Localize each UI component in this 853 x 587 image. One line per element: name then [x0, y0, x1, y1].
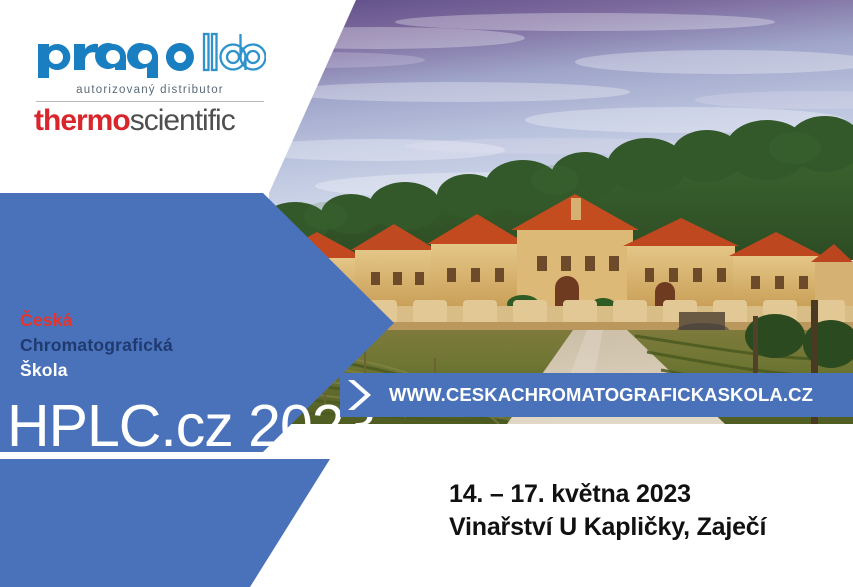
website-band[interactable]: WWW.CESKACHROMATOGRAFICKASKOLA.CZ	[340, 373, 853, 417]
thermo-scientific-logo: thermoscientific	[34, 106, 266, 136]
school-name-line-1: Česká	[20, 308, 350, 333]
event-info-block: 14. – 17. května 2023 Vinařství U Kaplič…	[449, 478, 849, 544]
school-name-line-2: Chromatografická	[20, 333, 350, 358]
hplc-wordmark: HPLC.cz 2023	[7, 397, 375, 456]
distributor-caption: autorizovaný distributor	[34, 84, 266, 96]
chevron-right-icon	[340, 373, 384, 417]
scientific-wordmark: scientific	[130, 104, 235, 137]
logo-block: autorizovaný distributor thermoscientifi…	[34, 30, 266, 136]
school-name-line-3: Škola	[20, 358, 350, 383]
website-url[interactable]: WWW.CESKACHROMATOGRAFICKASKOLA.CZ	[389, 373, 847, 417]
logo-divider	[36, 101, 264, 102]
event-venue: Vinařství U Kapličky, Zaječí	[449, 511, 849, 544]
poster-canvas: autorizovaný distributor thermoscientifi…	[0, 0, 853, 587]
event-dates: 14. – 17. května 2023	[449, 478, 849, 511]
pragolab-logo	[34, 30, 266, 82]
school-name-block: Česká Chromatografická Škola	[20, 308, 350, 383]
blue-footer-band	[0, 459, 330, 587]
thermo-wordmark: thermo	[34, 104, 130, 137]
